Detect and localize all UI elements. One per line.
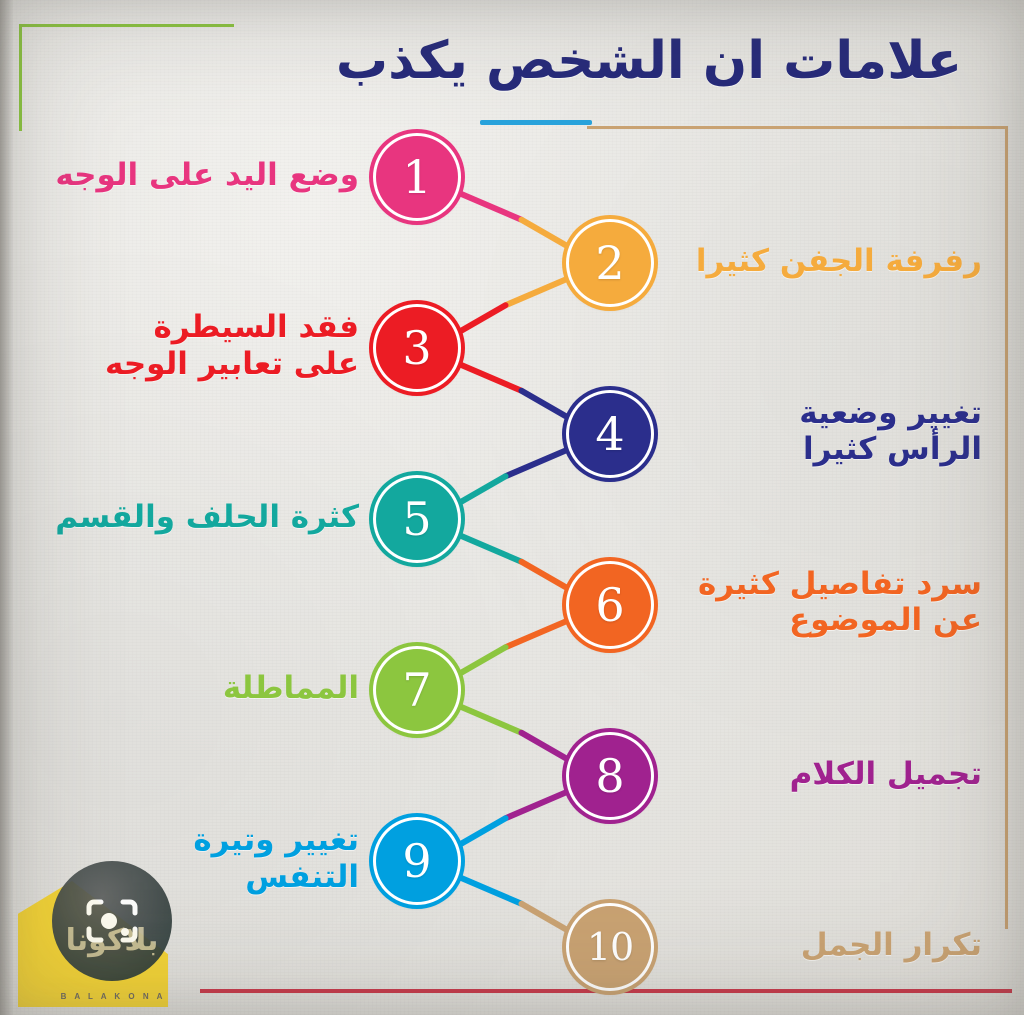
step-label-10: تكرار الجمل xyxy=(672,927,982,964)
step-label-4: تغيير وضعية الرأس كثيرا xyxy=(672,395,982,468)
step-node-5[interactable]: 5 xyxy=(373,475,461,563)
step-number: 2 xyxy=(595,240,624,286)
step-node-9[interactable]: 9 xyxy=(373,817,461,905)
step-label-1: وضع اليد على الوجه xyxy=(14,157,359,194)
step-node-6[interactable]: 6 xyxy=(566,561,654,649)
step-node-8[interactable]: 8 xyxy=(566,732,654,820)
step-node-4[interactable]: 4 xyxy=(566,390,654,478)
step-label-8: تجميل الكلام xyxy=(672,756,982,793)
step-node-1[interactable]: 1 xyxy=(373,133,461,221)
step-number: 5 xyxy=(402,496,431,542)
step-node-2[interactable]: 2 xyxy=(566,219,654,307)
step-number: 6 xyxy=(595,582,624,628)
step-number: 4 xyxy=(595,411,624,457)
step-label-5: كثرة الحلف والقسم xyxy=(14,499,359,536)
step-label-6: سرد تفاصيل كثيرة عن الموضوع xyxy=(672,566,982,639)
infographic-canvas: علامات ان الشخص يكذب 1وضع اليد على الوجه… xyxy=(0,0,1024,1015)
step-label-3: فقد السيطرة على تعابير الوجه xyxy=(14,309,359,382)
step-label-7: المماطلة xyxy=(14,670,359,707)
steps-chain: 1وضع اليد على الوجه2رفرفة الجفن كثيرا3فق… xyxy=(0,0,1024,1015)
step-number: 9 xyxy=(402,838,431,884)
step-label-9: تغيير وتيرة التنفس xyxy=(14,822,359,895)
step-node-7[interactable]: 7 xyxy=(373,646,461,734)
step-number: 3 xyxy=(402,325,431,371)
step-label-2: رفرفة الجفن كثيرا xyxy=(672,243,982,280)
step-node-3[interactable]: 3 xyxy=(373,304,461,392)
step-number: 7 xyxy=(402,667,431,713)
step-number: 8 xyxy=(595,753,624,799)
step-number: 1 xyxy=(402,154,431,200)
step-node-10[interactable]: 10 xyxy=(566,903,654,991)
step-number: 10 xyxy=(587,928,633,966)
